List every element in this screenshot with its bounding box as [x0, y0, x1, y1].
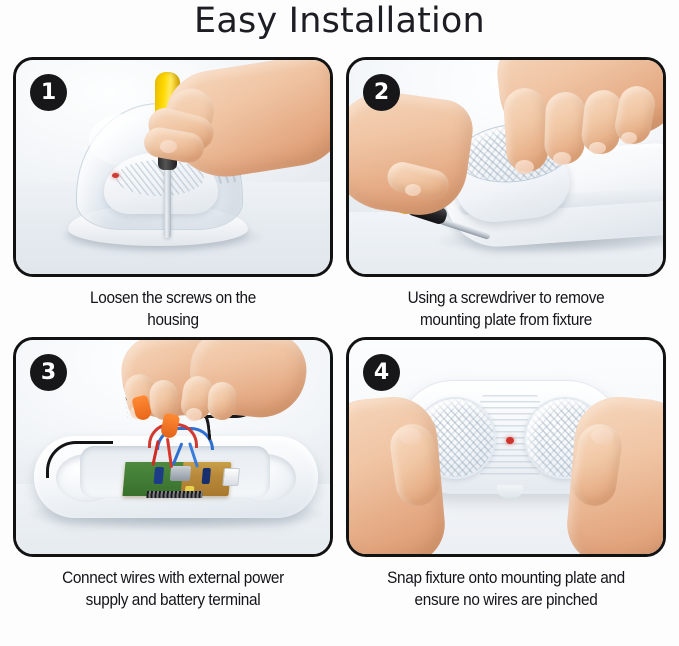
- led-indicator: [506, 437, 514, 444]
- fingernail: [405, 184, 421, 196]
- pin-header: [146, 491, 203, 498]
- step-card-1: 1 Loosen the screws on the housing: [13, 57, 333, 331]
- screwdriver-shaft: [164, 160, 171, 238]
- circuit-board: [123, 462, 232, 496]
- step-card-3: 3 Connect wires with external power supp…: [13, 337, 333, 611]
- installation-infographic: Easy Installation: [0, 0, 679, 646]
- transformer: [170, 466, 191, 481]
- bottom-clip: [497, 485, 523, 498]
- step-badge-4: 4: [363, 354, 400, 391]
- fingernail: [515, 160, 534, 174]
- step-caption-4: Snap fixture onto mounting plate and ens…: [356, 567, 656, 611]
- fingernail: [399, 428, 421, 444]
- step-caption-3: Connect wires with external power supply…: [23, 567, 323, 611]
- caption-line: Loosen the screws on the: [34, 287, 313, 309]
- step-card-4: 4 Snap fixture onto mounting plate and e…: [346, 337, 666, 611]
- caption-line: supply and battery terminal: [34, 589, 313, 611]
- led-indicator: [112, 173, 119, 178]
- caption-line: ensure no wires are pinched: [367, 589, 646, 611]
- right-middle-finger: [207, 381, 237, 420]
- fingernail: [621, 132, 637, 144]
- caption-line: housing: [34, 309, 313, 331]
- fingernail: [589, 142, 606, 154]
- caption-line: mounting plate from fixture: [367, 309, 646, 331]
- fingernail: [160, 140, 177, 153]
- step-badge-3: 3: [30, 354, 67, 391]
- step-card-2: 2 Using a screwdriver to remove mounting…: [346, 57, 666, 331]
- step-badge-1: 1: [30, 74, 67, 111]
- white-connector: [222, 468, 240, 486]
- step-caption-1: Loosen the screws on the housing: [23, 287, 323, 331]
- fingernail: [553, 152, 571, 165]
- step-image-3: 3: [13, 337, 333, 557]
- step-caption-2: Using a screwdriver to remove mounting p…: [356, 287, 656, 331]
- step-image-2: 2: [346, 57, 666, 277]
- caption-line: Using a screwdriver to remove: [367, 287, 646, 309]
- fingernail: [186, 408, 202, 421]
- capacitor-blue-2: [202, 468, 211, 484]
- page-title: Easy Installation: [0, 0, 679, 42]
- caption-line: Snap fixture onto mounting plate and: [367, 567, 646, 589]
- step-image-4: 4: [346, 337, 666, 557]
- step-image-1: 1: [13, 57, 333, 277]
- capacitor-blue: [154, 467, 164, 484]
- steps-grid: 1 Loosen the screws on the housing: [13, 57, 666, 611]
- step-badge-2: 2: [363, 74, 400, 111]
- caption-line: Connect wires with external power: [34, 567, 313, 589]
- fingernail: [591, 428, 613, 444]
